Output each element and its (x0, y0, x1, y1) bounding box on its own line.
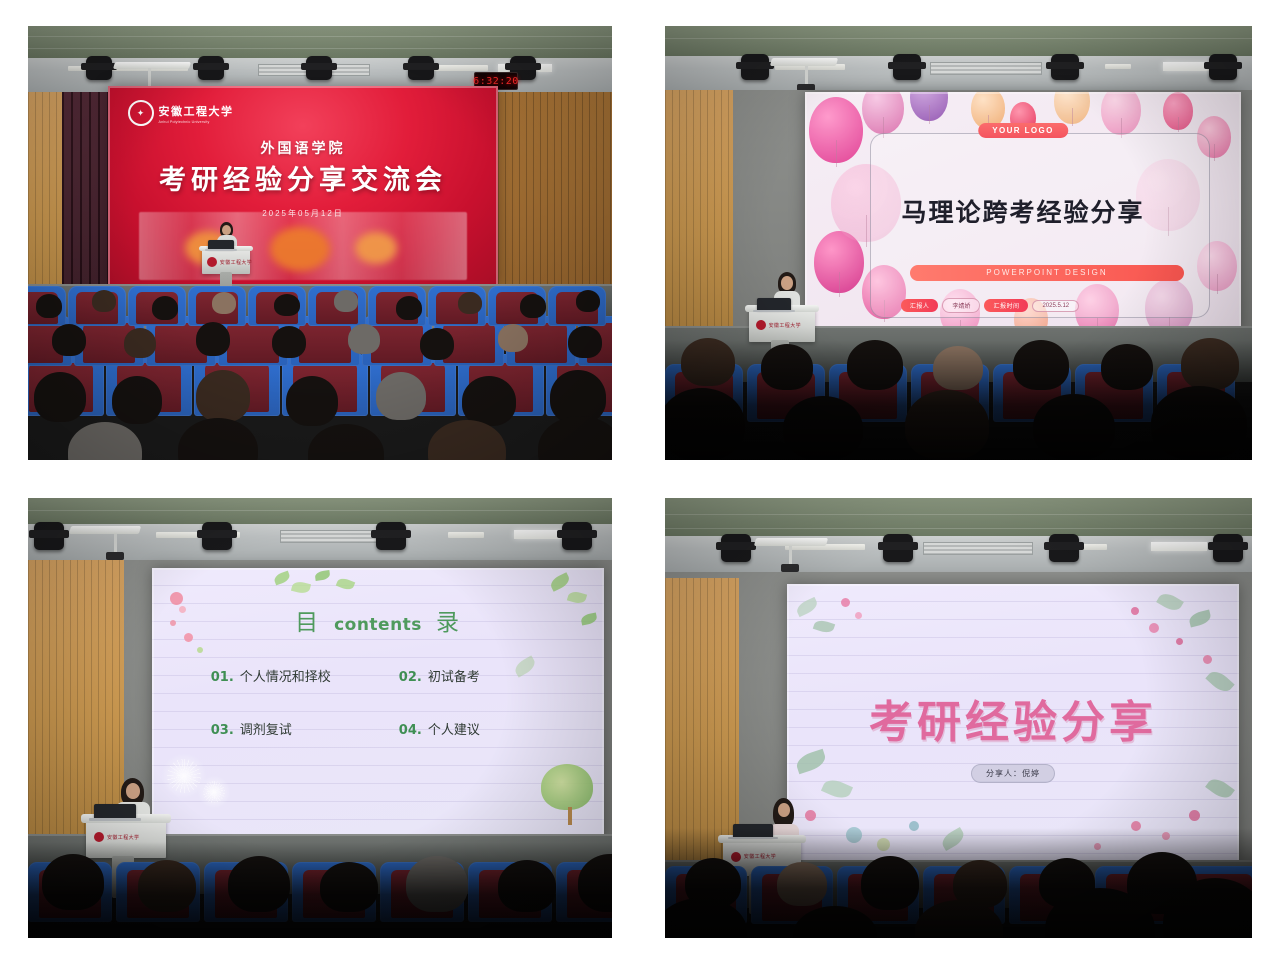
photo-panel-opening-ceremony: 6:32:20 ✦ 安徽工程大学 Anhui Polytechnic Unive… (28, 26, 612, 460)
toc-item: 03. 调剂复试 (211, 719, 385, 738)
university-name-en: Anhui Polytechnic University (159, 120, 234, 124)
mic-clamp (106, 552, 124, 560)
slide-title: 目contents录 (152, 603, 604, 637)
toc-item: 04. 个人建议 (385, 719, 559, 738)
toc-item-label: 调剂复试 (240, 719, 292, 738)
podium: 安徽工程大学 (202, 248, 250, 274)
stage-light-icon (86, 56, 112, 80)
ceiling (665, 26, 1252, 56)
toc-item-number: 04. (399, 723, 422, 738)
photo-panel-contents-slide: 目contents录 01. 个人情况和择校 02. 初试备考 03. 调剂复试 (28, 498, 612, 938)
auditorium-scene: 目contents录 01. 个人情况和择校 02. 初试备考 03. 调剂复试 (28, 498, 612, 938)
toc-title-right: 录 (436, 609, 461, 635)
ceiling (28, 26, 612, 58)
ceiling-mic-plate (69, 526, 141, 534)
university-logo: ✦ 安徽工程大学 Anhui Polytechnic University (128, 100, 234, 126)
laptop (94, 804, 136, 818)
university-crest-icon (207, 257, 217, 267)
toc-title-left: 目 (295, 609, 320, 635)
stage-light-icon (1213, 534, 1243, 562)
logo-pill: YOUR LOGO (978, 123, 1068, 138)
auditorium-scene: 考研经验分享 分享人：倪婷 安徽工程大学 (665, 498, 1252, 938)
mic-clamp (781, 564, 799, 572)
slide-title: 马理论跨考经验分享 (805, 193, 1241, 229)
auditorium-scene: 6:32:20 ✦ 安徽工程大学 Anhui Polytechnic Unive… (28, 26, 612, 460)
slide-title: 考研经验分享 (787, 686, 1239, 750)
slide-design-bar: POWERPOINT DESIGN (910, 265, 1185, 281)
led-presentation-screen: 考研经验分享 分享人：倪婷 (787, 584, 1239, 866)
ceiling-mic-plate (770, 58, 838, 66)
toc-title-en: contents (334, 615, 422, 635)
audience (665, 310, 1252, 460)
toc-item-label: 个人情况和择校 (240, 666, 331, 685)
led-presentation-screen: YOUR LOGO 马理论跨考经验分享 POWERPOINT DESIGN 汇报… (805, 92, 1241, 332)
photo-panel-cover-slide: 考研经验分享 分享人：倪婷 安徽工程大学 (665, 498, 1252, 938)
toc-item-label: 个人建议 (428, 719, 480, 738)
led-banner-screen: ✦ 安徽工程大学 Anhui Polytechnic University 外国… (108, 86, 498, 286)
stage-light-icon (202, 522, 232, 550)
toc-item-label: 初试备考 (428, 666, 480, 685)
stage-light-icon (562, 522, 592, 550)
ceiling (665, 498, 1252, 536)
ceiling (28, 498, 612, 524)
photo-panel-balloon-slide: YOUR LOGO 马理论跨考经验分享 POWERPOINT DESIGN 汇报… (665, 26, 1252, 460)
presenter-pill: 分享人：倪婷 (971, 764, 1055, 783)
toc-item: 01. 个人情况和择校 (211, 666, 385, 685)
toc-item: 02. 初试备考 (385, 666, 559, 685)
led-presentation-screen: 目contents录 01. 个人情况和择校 02. 初试备考 03. 调剂复试 (152, 568, 604, 840)
stage-light-icon (1049, 534, 1079, 562)
stage-light-icon (34, 522, 64, 550)
auditorium-scene: YOUR LOGO 马理论跨考经验分享 POWERPOINT DESIGN 汇报… (665, 26, 1252, 460)
banner-photo-strip (139, 212, 467, 280)
banner-subtitle: 外国语学院 (108, 138, 498, 158)
stage-light-icon (721, 534, 751, 562)
audience (28, 828, 612, 938)
toc-item-number: 03. (211, 723, 234, 738)
banner-title: 考研经验分享交流会 (108, 158, 498, 197)
podium-emblem: 安徽工程大学 (207, 257, 252, 267)
stage-light-icon (1209, 54, 1237, 80)
ceiling-soffit (665, 536, 1252, 572)
stage-light-icon (376, 522, 406, 550)
audience (28, 280, 612, 460)
laptop (757, 298, 791, 310)
stage-light-icon (306, 56, 332, 80)
stage-curtain (62, 92, 108, 306)
ceiling-mic-plate (754, 538, 828, 546)
ceiling-mic-plate (113, 62, 191, 69)
stage-light-icon (893, 54, 921, 80)
stage-light-icon (408, 56, 434, 80)
toc-item-number: 01. (211, 670, 234, 685)
stage-light-icon (883, 534, 913, 562)
university-crest-icon: ✦ (128, 100, 154, 126)
podium-emblem-text: 安徽工程大学 (220, 259, 252, 266)
university-name-zh: 安徽工程大学 (159, 106, 234, 118)
toc-list: 01. 个人情况和择校 02. 初试备考 03. 调剂复试 04. 个人建议 (211, 666, 559, 738)
stage-light-icon (741, 54, 769, 80)
laptop (208, 240, 234, 249)
toc-item-number: 02. (399, 670, 422, 685)
stage-light-icon (198, 56, 224, 80)
photo-collage: 6:32:20 ✦ 安徽工程大学 Anhui Polytechnic Unive… (0, 0, 1280, 960)
audience (665, 828, 1252, 938)
stage-light-icon (1051, 54, 1079, 80)
